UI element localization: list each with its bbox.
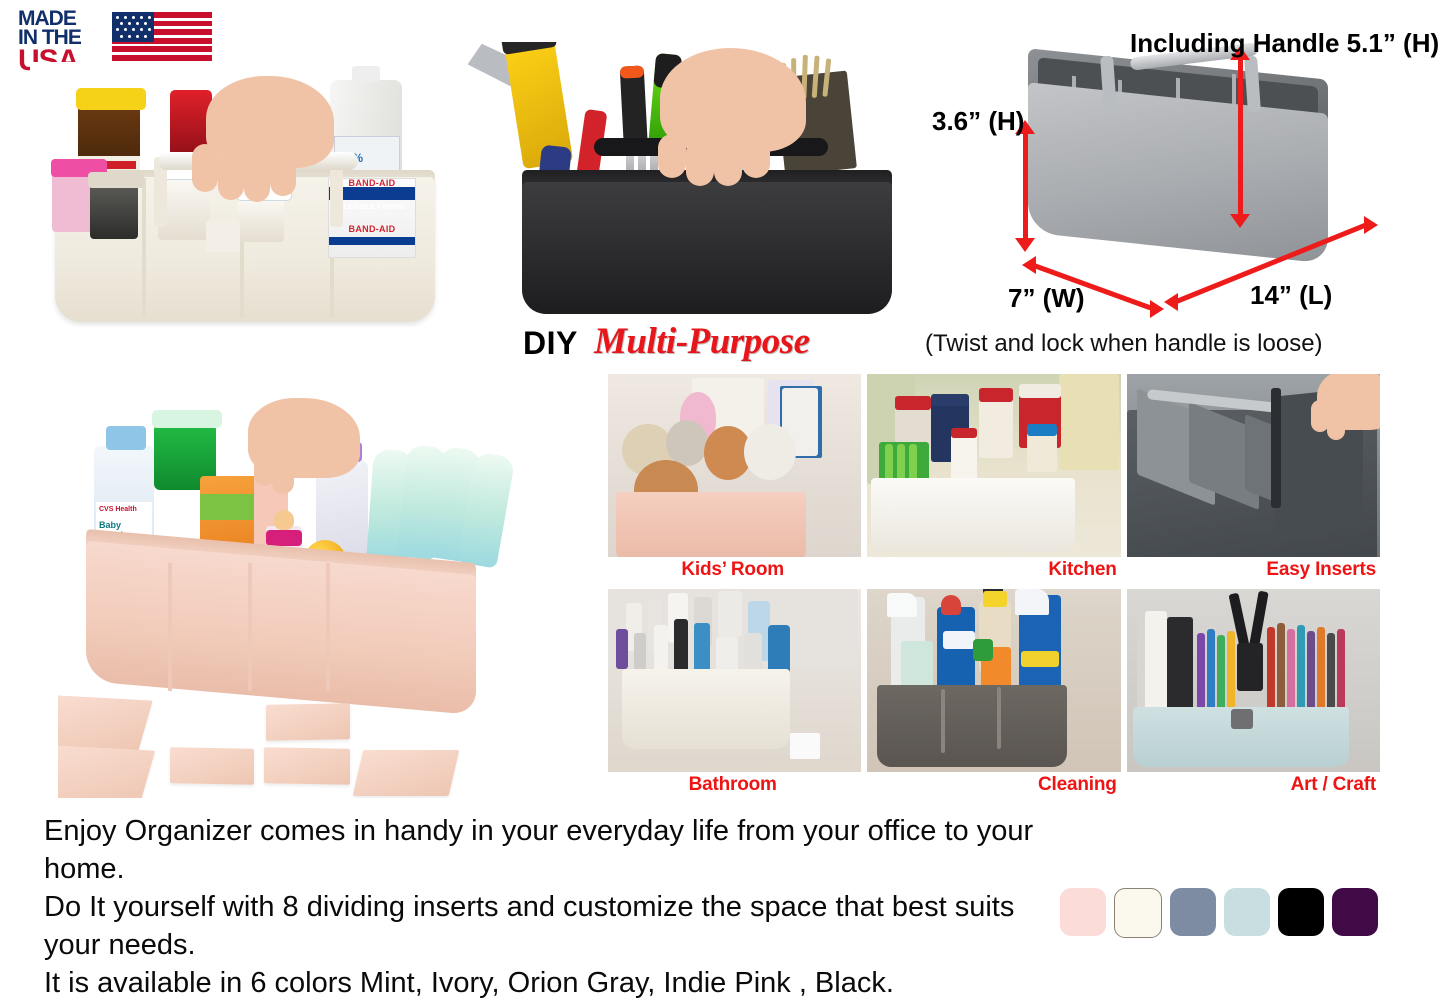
finger xyxy=(192,144,218,192)
heading-diy: DIY xyxy=(523,325,578,362)
organizer-body xyxy=(522,182,892,314)
divider-insert xyxy=(168,563,172,691)
arrowhead-right xyxy=(1150,300,1164,318)
width-label: 7” (W) xyxy=(1008,283,1085,314)
finger xyxy=(658,134,686,178)
twist-and-lock-note: (Twist and lock when handle is loose) xyxy=(925,330,1323,358)
usecase-caption: Kitchen xyxy=(867,557,1120,583)
divider-insert-piece xyxy=(264,747,350,785)
color-swatch-ivory[interactable] xyxy=(1114,888,1162,938)
heading-multi-purpose: Multi-Purpose xyxy=(594,320,810,363)
divider-insert xyxy=(326,563,330,691)
height-label: 3.6” (H) xyxy=(932,106,1024,137)
art-craft-photo xyxy=(1127,589,1380,798)
divider-insert-piece xyxy=(170,747,254,784)
divider-insert-piece xyxy=(58,695,153,752)
divider-insert xyxy=(142,178,146,318)
color-swatch-orion-gray[interactable] xyxy=(1170,888,1216,936)
usecase-cell-art-craft: Art / Craft xyxy=(1127,589,1380,798)
height-arrow xyxy=(1023,130,1028,248)
pink-organizer-with-baby-supplies-photo: CVS HealthBabyPowder xyxy=(58,398,563,798)
black-organizer-with-tools-photo xyxy=(462,42,932,327)
description-line-2: Do It yourself with 8 dividing inserts a… xyxy=(44,888,1054,964)
usecase-caption: Kids’ Room xyxy=(608,557,861,583)
usecase-photo-grid: Kids’ Room Kitchen xyxy=(608,374,1380,798)
gray-organizer-dimension-diagram: 3.6” (H) Including Handle 5.1” (H) 7” (W… xyxy=(960,28,1430,328)
finger xyxy=(218,148,244,200)
usecase-caption: Cleaning xyxy=(867,772,1120,798)
divider-insert-piece xyxy=(58,745,155,798)
usecase-cell-kitchen: Kitchen xyxy=(867,374,1120,583)
arrowhead-left xyxy=(1164,293,1178,311)
arrowhead-down xyxy=(1015,238,1035,252)
finger xyxy=(272,454,294,494)
handle-post xyxy=(1244,56,1261,113)
color-swatch-indie-pink[interactable] xyxy=(1060,888,1106,936)
color-swatch-black[interactable] xyxy=(1278,888,1324,936)
finger xyxy=(270,148,296,196)
arrowhead-left xyxy=(1022,256,1036,274)
usecase-caption: Art / Craft xyxy=(1127,772,1380,798)
white-organizer-with-medicine-photo: 70% BAND-AID FLEXIBLE FABRIC BAND-AID xyxy=(30,62,460,327)
usecase-cell-kids-room: Kids’ Room xyxy=(608,374,861,583)
color-swatch-purple[interactable] xyxy=(1332,888,1378,936)
arrowhead-down xyxy=(1230,214,1250,228)
usecase-cell-cleaning: Cleaning xyxy=(867,589,1120,798)
divider-insert-piece xyxy=(353,750,460,796)
length-label: 14” (L) xyxy=(1250,280,1332,311)
finger xyxy=(244,150,270,202)
description-text: Enjoy Organizer comes in handy in your e… xyxy=(44,812,1054,1002)
usecase-caption: Bathroom xyxy=(608,772,861,798)
arrowhead-right xyxy=(1364,216,1378,234)
finger xyxy=(686,138,714,186)
divider-insert-piece xyxy=(266,703,350,740)
description-line-1: Enjoy Organizer comes in handy in your e… xyxy=(44,812,1054,888)
handle-height-label: Including Handle 5.1” (H) xyxy=(1130,28,1439,59)
finger xyxy=(714,138,742,186)
kids-room-photo xyxy=(608,374,861,583)
organizer-body xyxy=(1028,82,1328,264)
color-swatch-row xyxy=(1060,888,1378,938)
usecase-cell-easy-inserts: Easy Inserts xyxy=(1127,374,1380,583)
dark-jar xyxy=(90,184,138,239)
finger xyxy=(742,134,770,178)
bathroom-photo xyxy=(608,589,861,798)
description-line-3: It is available in 6 colors Mint, Ivory,… xyxy=(44,964,1054,1002)
easy-inserts-photo xyxy=(1127,374,1380,583)
hand xyxy=(660,48,806,152)
kitchen-photo xyxy=(867,374,1120,583)
usecase-caption: Easy Inserts xyxy=(1127,557,1380,583)
cleaning-photo xyxy=(867,589,1120,798)
white-container xyxy=(206,220,240,252)
usecase-cell-bathroom: Bathroom xyxy=(608,589,861,798)
divider-insert xyxy=(248,563,252,691)
color-swatch-mint[interactable] xyxy=(1224,888,1270,936)
handle-height-arrow xyxy=(1238,56,1243,224)
